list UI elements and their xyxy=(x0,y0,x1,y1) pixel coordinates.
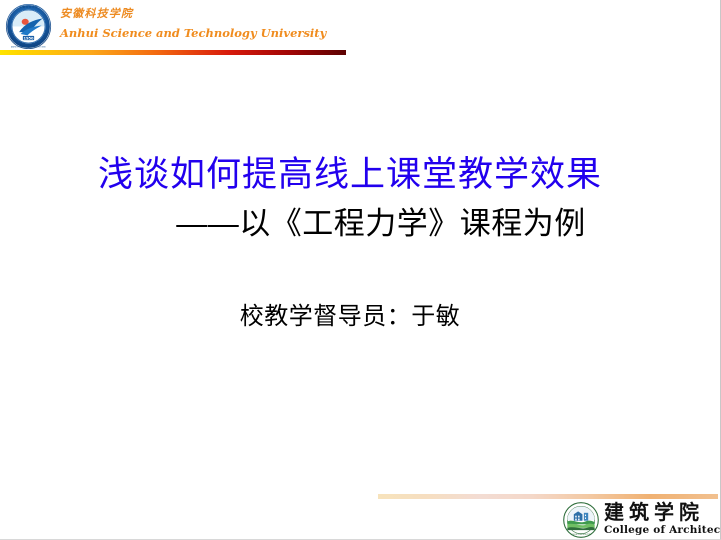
college-emblem-icon: COLLEGE OF ARCHITECTURE xyxy=(563,502,599,538)
college-name-chinese: 建筑学院 xyxy=(604,500,721,524)
college-name-english: College of Architecture xyxy=(604,524,721,537)
presenter-label: 校教学督导员：于敏 xyxy=(0,300,700,334)
university-emblem-icon: 1950 安 徽 科 技 学 院 ANHUI SCIENCE AND TECHN… xyxy=(5,3,52,50)
emblem-year-label: 1950 xyxy=(24,36,34,40)
footer-gradient-rule xyxy=(378,494,718,499)
svg-text:安 徽 科 技 学 院: 安 徽 科 技 学 院 xyxy=(19,5,38,9)
page-title: 浅谈如何提高线上课堂教学效果 xyxy=(0,153,700,197)
university-name-block: 安徽科技学院 Anhui Science and Technology Univ… xyxy=(60,6,350,41)
college-logo-group: COLLEGE OF ARCHITECTURE 建筑学院 College of … xyxy=(563,500,721,540)
university-name-chinese: 安徽科技学院 xyxy=(60,6,350,21)
college-name-block: 建筑学院 College of Architecture xyxy=(604,500,721,537)
page-subtitle: ——以《工程力学》课程为例 xyxy=(0,203,700,245)
presentation-title-slide: 1950 安 徽 科 技 学 院 ANHUI SCIENCE AND TECHN… xyxy=(0,0,721,540)
university-name-english: Anhui Science and Technology University xyxy=(60,25,350,41)
header-gradient-rule xyxy=(0,50,346,55)
